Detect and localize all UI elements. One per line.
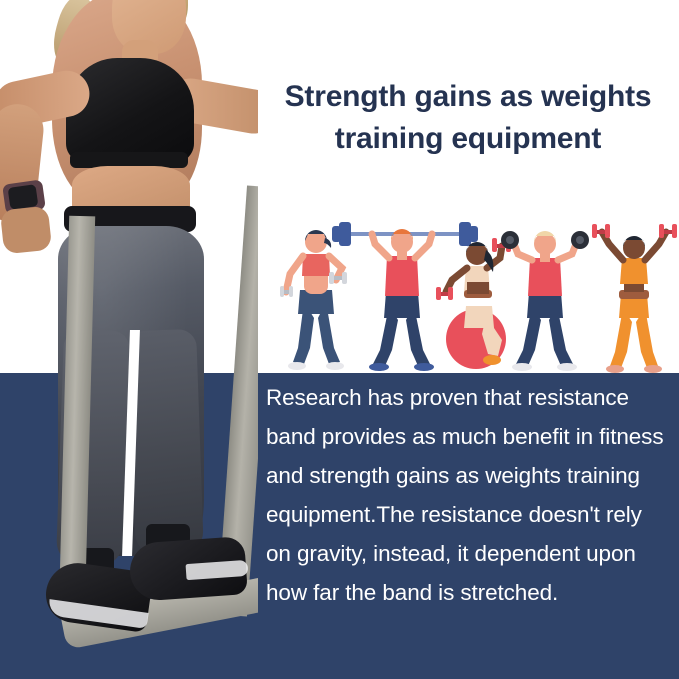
figure-5-woman-arms-raised <box>592 224 677 373</box>
figure-4-man-shoulder-press <box>501 231 589 371</box>
body-paragraph: Research has proven that resistance band… <box>266 378 670 612</box>
figure-1-woman-with-dumbbells <box>280 230 347 370</box>
exercise-figures-illustration <box>280 214 679 374</box>
dumbbell-left-dark <box>501 231 519 249</box>
headline: Strength gains as weights training equip… <box>262 76 674 160</box>
product-photo <box>0 0 258 679</box>
dumbbell-right-dark <box>571 231 589 249</box>
figure-3-woman-on-exercise-ball <box>436 238 511 369</box>
right-leg <box>128 329 204 557</box>
dumbbell-right-red <box>659 224 677 238</box>
left-hand-grip <box>0 206 52 255</box>
product-infographic: Strength gains as weights training equip… <box>0 0 679 679</box>
